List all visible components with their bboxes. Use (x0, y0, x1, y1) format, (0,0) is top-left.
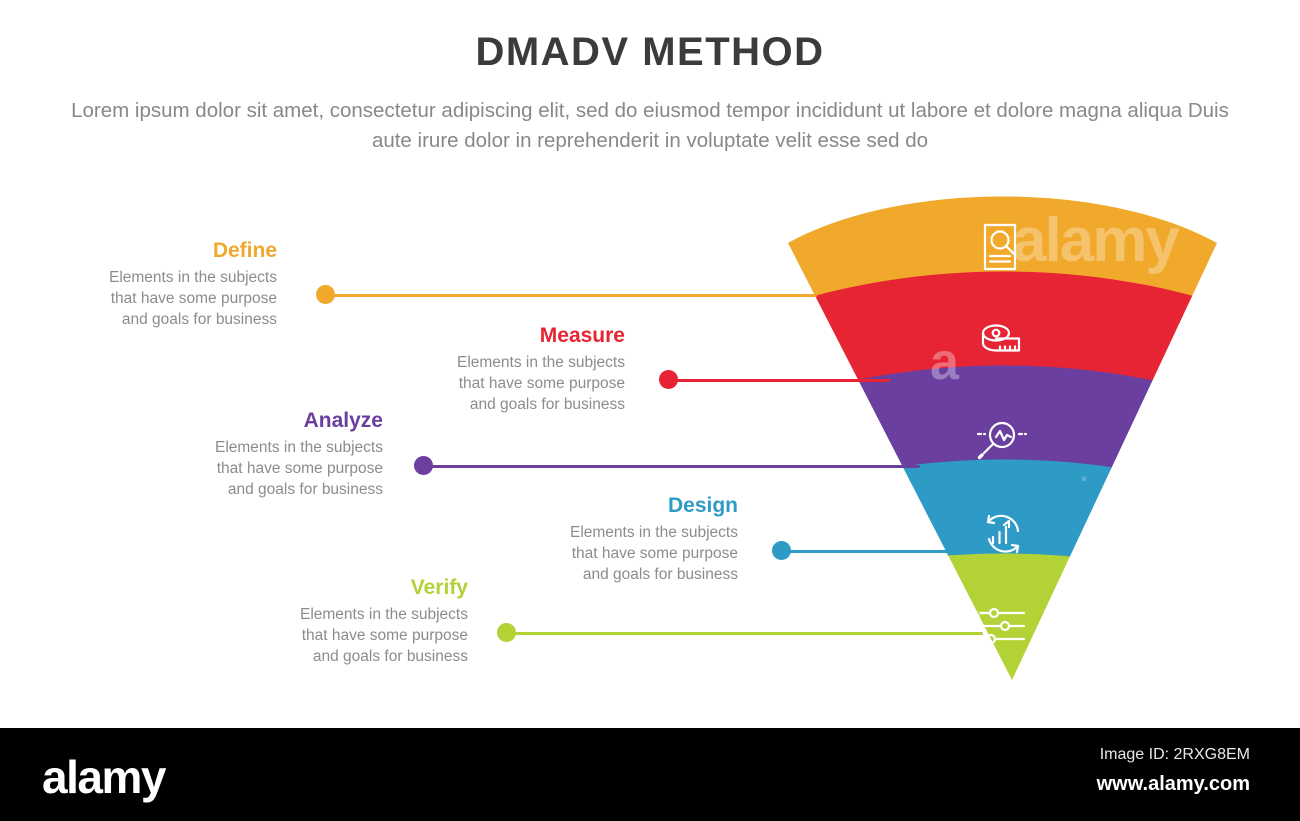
step-text-define: Define Elements in the subjects that hav… (47, 238, 277, 330)
step-label-measure: Measure (395, 323, 625, 349)
step-label-define: Define (47, 238, 277, 264)
step-label-verify: Verify (238, 575, 468, 601)
step-text-analyze: Analyze Elements in the subjects that ha… (153, 408, 383, 500)
watermark-footer-bar: alamy Image ID: 2RXG8EM www.alamy.com (0, 728, 1300, 821)
alamy-website-label: www.alamy.com (930, 773, 1250, 796)
step-description-design: Elements in the subjects that have some … (508, 522, 738, 585)
connector-define[interactable] (316, 285, 816, 305)
connector-verify[interactable] (497, 623, 982, 643)
step-description-define: Elements in the subjects that have some … (47, 267, 277, 330)
step-row-define: Define Elements in the subjects that hav… (60, 238, 335, 358)
page-title: DMADV METHOD (0, 30, 1300, 75)
funnel-chart (780, 195, 1225, 690)
connector-line-design (781, 550, 973, 553)
step-label-analyze: Analyze (153, 408, 383, 434)
step-text-verify: Verify Elements in the subjects that hav… (238, 575, 468, 667)
infographic-canvas: DMADV METHOD Lorem ipsum dolor sit amet,… (0, 0, 1300, 821)
connector-analyze[interactable] (414, 456, 919, 476)
step-description-analyze: Elements in the subjects that have some … (153, 437, 383, 500)
connector-dot-design[interactable] (772, 541, 791, 560)
connector-line-analyze (423, 465, 920, 468)
page-subtitle: Lorem ipsum dolor sit amet, consectetur … (60, 96, 1240, 156)
step-label-design: Design (508, 493, 738, 519)
step-row-verify: Verify Elements in the subjects that hav… (240, 575, 520, 695)
connector-dot-define[interactable] (316, 285, 335, 304)
step-row-measure: Measure Elements in the subjects that ha… (400, 323, 680, 443)
step-text-measure: Measure Elements in the subjects that ha… (395, 323, 625, 415)
image-id-label: Image ID: 2RXG8EM (930, 746, 1250, 764)
connector-measure[interactable] (659, 370, 889, 390)
connector-line-measure (668, 379, 890, 382)
step-text-design: Design Elements in the subjects that hav… (508, 493, 738, 585)
connector-dot-measure[interactable] (659, 370, 678, 389)
step-row-design: Design Elements in the subjects that hav… (510, 493, 790, 613)
connector-line-define (325, 294, 817, 297)
step-row-analyze: Analyze Elements in the subjects that ha… (155, 408, 435, 528)
step-description-measure: Elements in the subjects that have some … (395, 352, 625, 415)
alamy-logo: alamy (42, 750, 165, 804)
connector-line-verify (506, 632, 983, 635)
connector-dot-analyze[interactable] (414, 456, 433, 475)
connector-design[interactable] (772, 541, 972, 561)
connector-dot-verify[interactable] (497, 623, 516, 642)
step-description-verify: Elements in the subjects that have some … (238, 604, 468, 667)
